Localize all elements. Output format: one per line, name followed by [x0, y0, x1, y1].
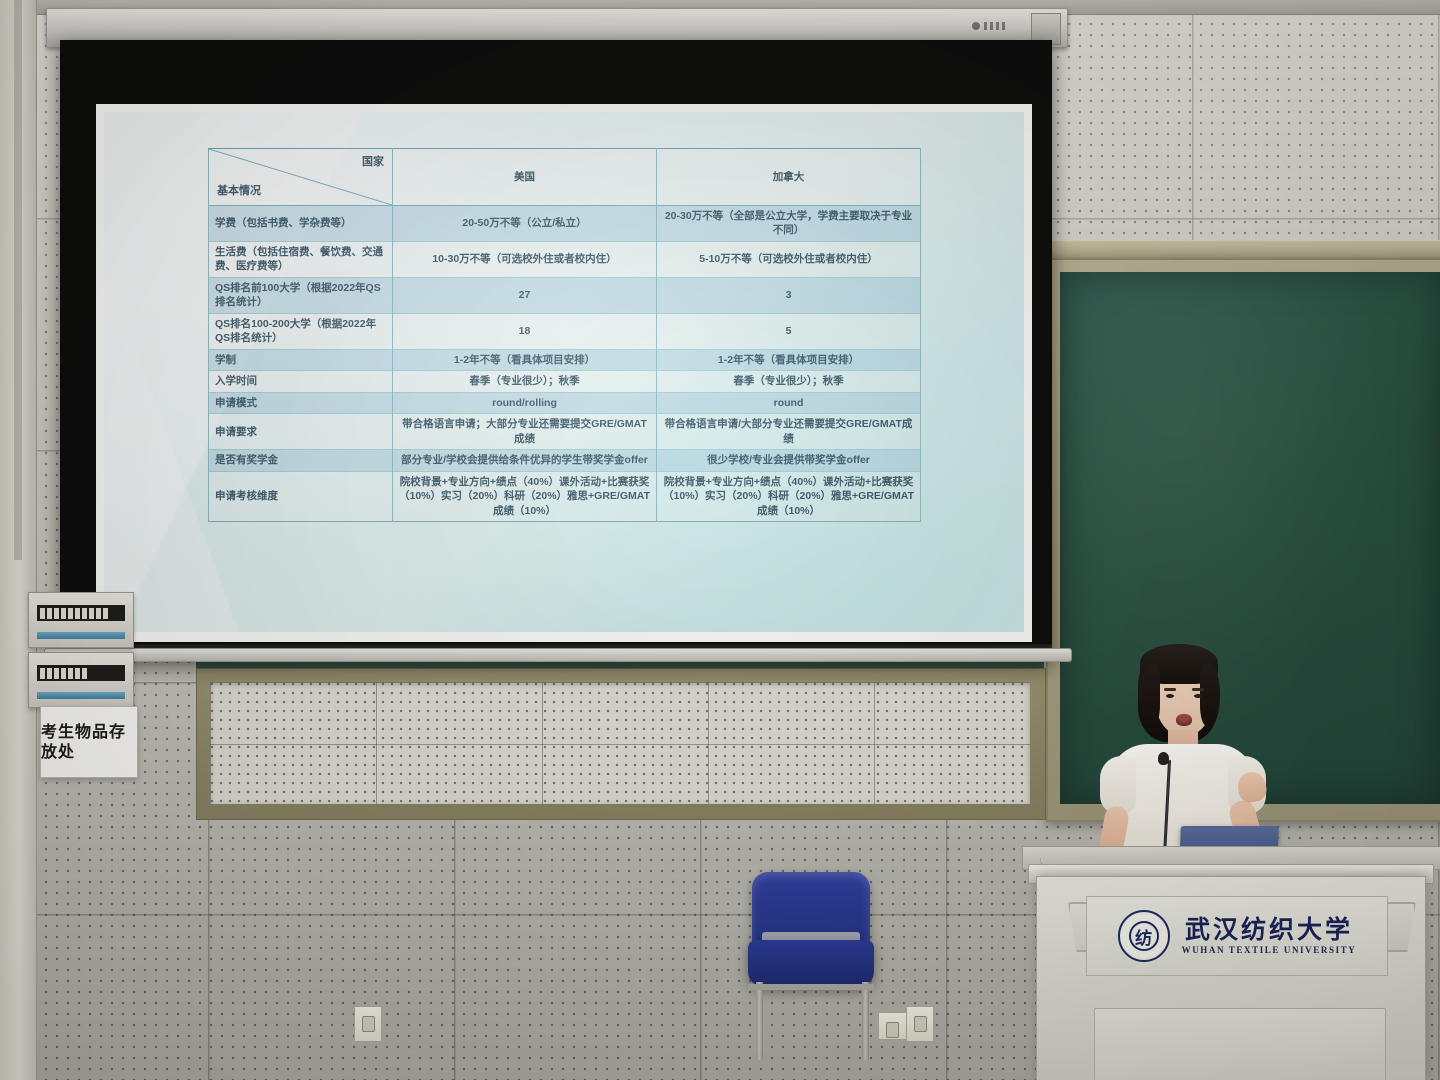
- table-row: 是否有奖学金 部分专业/学校会提供给条件优异的学生带奖学金offer 很少学校/…: [209, 450, 921, 471]
- speaker-hair-right: [1200, 664, 1220, 726]
- row-value-us: 院校背景+专业方向+绩点（40%）课外活动+比赛获奖（10%）实习（20%）科研…: [393, 471, 657, 521]
- speaker-eyebrow-right: [1192, 688, 1204, 691]
- storage-sign: 考生物品存放处: [40, 706, 138, 778]
- row-value-ca: 20-30万不等（全部是公立大学，学费主要取决于专业不同）: [657, 206, 921, 242]
- left-pillar-edge: [14, 0, 22, 560]
- breaker-row-icon: [37, 605, 125, 621]
- chair-seat: [748, 940, 874, 986]
- speaker-eyebrow-left: [1164, 688, 1176, 691]
- speaker-sleeve-left: [1100, 756, 1136, 814]
- row-label: QS排名前100大学（根据2022年QS排名统计）: [209, 277, 393, 313]
- blackboard: [1060, 272, 1440, 804]
- row-value-ca: 院校背景+专业方向+绩点（40%）课外活动+比赛获奖（10%）实习（20%）科研…: [657, 471, 921, 521]
- row-value-ca: 5-10万不等（可选校外住或者校内住）: [657, 241, 921, 277]
- corner-country-label: 国家: [362, 155, 384, 170]
- brand-bars-icon: [984, 22, 1005, 30]
- row-label: QS排名100-200大学（根据2022年QS排名统计）: [209, 313, 393, 349]
- university-name-en: WUHAN TEXTILE UNIVERSITY: [1182, 945, 1357, 955]
- chair-crossbar: [748, 984, 874, 990]
- wall-outlet[interactable]: [354, 1006, 382, 1042]
- university-nameplate: 纺 武汉纺织大学 WUHAN TEXTILE UNIVERSITY: [1086, 896, 1388, 976]
- electrical-panel-upper[interactable]: [28, 592, 134, 648]
- speaker-eye-left: [1166, 694, 1174, 698]
- table-row: 申请模式 round/rolling round: [209, 392, 921, 413]
- table-row: 入学时间 春季（专业很少）；秋季 春季（专业很少）；秋季: [209, 371, 921, 392]
- comparison-table: 国家 基本情况 美国 加拿大 学费（包括书费、学杂费等） 20-50万不等（公立…: [208, 148, 921, 522]
- speaker-mouth: [1176, 714, 1192, 726]
- row-value-ca: 很少学校/专业会提供带奖学金offer: [657, 450, 921, 471]
- row-value-ca: 5: [657, 313, 921, 349]
- panel-label-strip: [37, 632, 125, 639]
- lectern-front-panel: [1094, 1008, 1386, 1080]
- row-value-ca: 带合格语言申请/大部分专业还需要提交GRE/GMAT成绩: [657, 414, 921, 450]
- row-value-us: 27: [393, 277, 657, 313]
- projected-slide: 国家 基本情况 美国 加拿大 学费（包括书费、学杂费等） 20-50万不等（公立…: [104, 112, 1024, 632]
- university-name-cn: 武汉纺织大学: [1185, 917, 1353, 942]
- seal-glyph: 纺: [1120, 912, 1168, 960]
- table-row: QS排名100-200大学（根据2022年QS排名统计） 18 5: [209, 313, 921, 349]
- table-row: 申请考核维度 院校背景+专业方向+绩点（40%）课外活动+比赛获奖（10%）实习…: [209, 471, 921, 521]
- row-label: 入学时间: [209, 371, 393, 392]
- screen-weight-bar[interactable]: [44, 648, 1072, 662]
- table-row: 学制 1-2年不等（看具体项目安排） 1-2年不等（看具体项目安排）: [209, 349, 921, 370]
- storage-sign-text: 考生物品存放处: [41, 722, 137, 762]
- row-value-ca: 3: [657, 277, 921, 313]
- lower-wall-panels: [210, 682, 1030, 804]
- housing-brand-mark: [972, 22, 1005, 30]
- table-header-row: 国家 基本情况 美国 加拿大: [209, 149, 921, 206]
- university-seal-icon: 纺: [1118, 910, 1170, 962]
- row-label: 学费（包括书费、学杂费等）: [209, 206, 393, 242]
- row-value-us: 部分专业/学校会提供给条件优异的学生带奖学金offer: [393, 450, 657, 471]
- brand-dot-icon: [972, 22, 980, 30]
- row-value-us: 带合格语言申请；大部分专业还需要提交GRE/GMAT成绩: [393, 414, 657, 450]
- row-value-ca: round: [657, 392, 921, 413]
- corner-diagonal-cell: 国家 基本情况: [209, 149, 393, 206]
- speaker-hair-left: [1140, 664, 1160, 726]
- row-label: 申请考核维度: [209, 471, 393, 521]
- chair-leg-left: [756, 982, 763, 1060]
- corner-basic-label: 基本情况: [217, 184, 261, 199]
- row-value-us: 春季（专业很少）；秋季: [393, 371, 657, 392]
- row-label: 学制: [209, 349, 393, 370]
- column-header-us: 美国: [393, 149, 657, 206]
- electrical-panel-lower[interactable]: [28, 652, 134, 708]
- speaker-eye-right: [1194, 694, 1202, 698]
- row-label: 是否有奖学金: [209, 450, 393, 471]
- table-row: QS排名前100大学（根据2022年QS排名统计） 27 3: [209, 277, 921, 313]
- row-value-us: 18: [393, 313, 657, 349]
- row-label: 申请模式: [209, 392, 393, 413]
- row-value-us: 10-30万不等（可选校外住或者校内住）: [393, 241, 657, 277]
- column-header-ca: 加拿大: [657, 149, 921, 206]
- row-value-us: 20-50万不等（公立/私立）: [393, 206, 657, 242]
- table-row: 学费（包括书费、学杂费等） 20-50万不等（公立/私立） 20-30万不等（全…: [209, 206, 921, 242]
- chair-leg-right: [862, 982, 869, 1060]
- classroom-photo: 国家 基本情况 美国 加拿大 学费（包括书费、学杂费等） 20-50万不等（公立…: [0, 0, 1440, 1080]
- table-row: 申请要求 带合格语言申请；大部分专业还需要提交GRE/GMAT成绩 带合格语言申…: [209, 414, 921, 450]
- row-value-ca: 春季（专业很少）；秋季: [657, 371, 921, 392]
- wall-outlet[interactable]: [906, 1006, 934, 1042]
- university-name-block: 武汉纺织大学 WUHAN TEXTILE UNIVERSITY: [1182, 917, 1357, 955]
- row-value-us: round/rolling: [393, 392, 657, 413]
- row-value-us: 1-2年不等（看具体项目安排）: [393, 349, 657, 370]
- row-value-ca: 1-2年不等（看具体项目安排）: [657, 349, 921, 370]
- table-row: 生活费（包括住宿费、餐饮费、交通费、医疗费等） 10-30万不等（可选校外住或者…: [209, 241, 921, 277]
- row-label: 生活费（包括住宿费、餐饮费、交通费、医疗费等）: [209, 241, 393, 277]
- row-label: 申请要求: [209, 414, 393, 450]
- panel-label-strip: [37, 692, 125, 699]
- breaker-row-icon: [37, 665, 125, 681]
